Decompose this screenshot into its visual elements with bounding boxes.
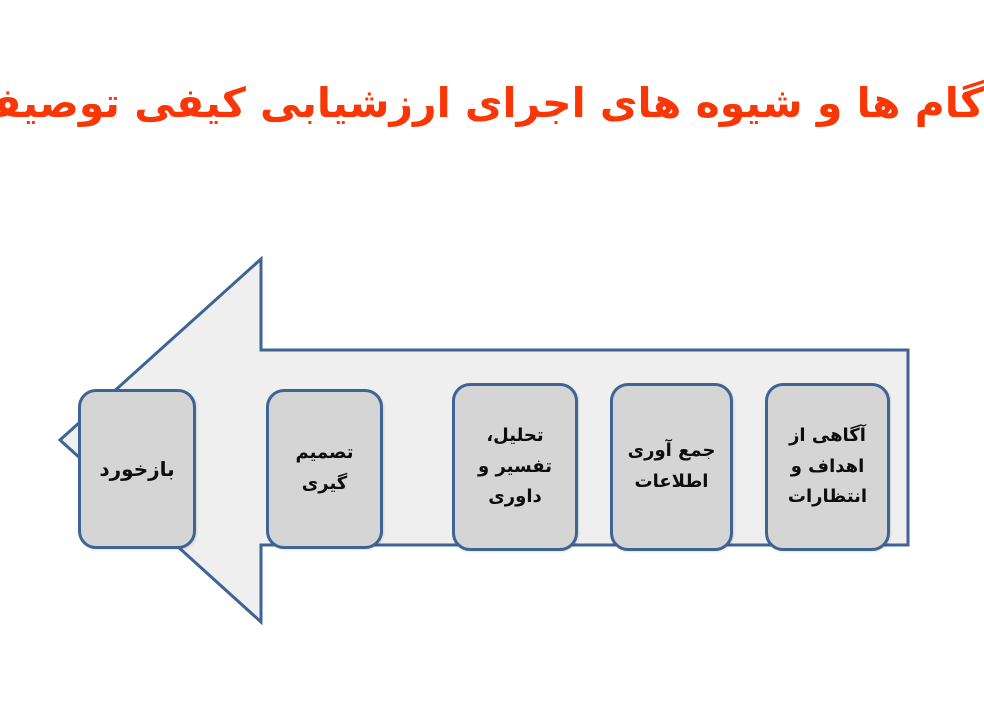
step-label-line: داوری bbox=[486, 482, 543, 513]
step-label-line: آگاهی از bbox=[787, 421, 868, 452]
step-label-line: بازخورد bbox=[97, 453, 176, 486]
step-box-decision[interactable]: تصمیم گیری bbox=[266, 389, 383, 549]
step-label-line: اهداف و bbox=[789, 452, 867, 483]
slide-canvas: گام ها و شیوه های اجرای ارزشیابی کیفی تو… bbox=[0, 0, 984, 704]
step-label-line: انتظارات bbox=[786, 482, 869, 513]
step-label-line: تفسیر و bbox=[476, 452, 554, 483]
step-box-data-collection[interactable]: جمع آوری اطلاعات bbox=[610, 383, 733, 551]
step-label-line: جمع آوری bbox=[626, 436, 718, 467]
step-box-feedback[interactable]: بازخورد bbox=[78, 389, 196, 549]
step-label-line: اطلاعات bbox=[633, 467, 711, 498]
step-label-line: تحلیل، bbox=[484, 421, 545, 452]
step-label-line: گیری bbox=[300, 469, 350, 500]
step-label-line: تصمیم bbox=[293, 438, 355, 469]
step-box-analysis[interactable]: تحلیل، تفسیر و داوری bbox=[452, 383, 578, 551]
page-title: گام ها و شیوه های اجرای ارزشیابی کیفی تو… bbox=[0, 78, 984, 129]
step-box-goals-awareness[interactable]: آگاهی از اهداف و انتظارات bbox=[765, 383, 890, 551]
